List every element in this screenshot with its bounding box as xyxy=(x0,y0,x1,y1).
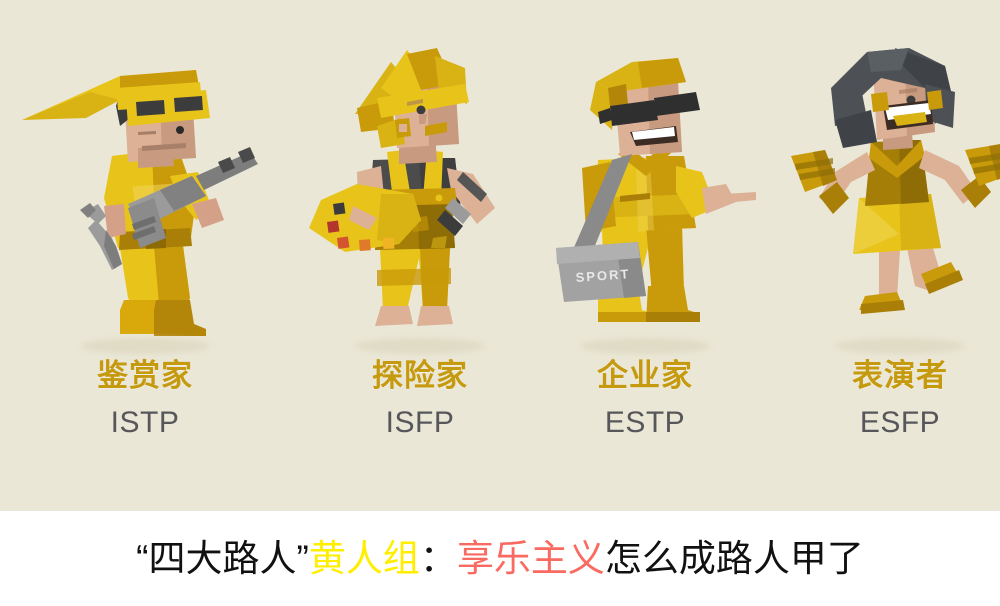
figure-cn-name: 企业家 xyxy=(520,360,770,391)
caption-bar: “四大路人”黄人组：享乐主义怎么成路人甲了 xyxy=(0,511,1000,606)
figure-label-istp: 鉴赏家 ISTP xyxy=(20,360,270,438)
figure-mbti-code: ESTP xyxy=(520,408,770,438)
figure-cn-name: 鉴赏家 xyxy=(20,360,270,391)
poster-page: 鉴赏家 ISTP xyxy=(0,0,1000,606)
figure-label-isfp: 探险家 ISFP xyxy=(295,360,545,438)
figure-shadow xyxy=(80,338,210,354)
figure-label-estp: 企业家 ESTP xyxy=(520,360,770,438)
caption-segment-5: 怎么成路人甲了 xyxy=(605,538,864,579)
artist-with-palette-figure xyxy=(295,48,545,348)
figure-cn-name: 探险家 xyxy=(295,360,545,391)
craftsman-with-drill-figure xyxy=(20,48,270,348)
figure-mbti-code: ISFP xyxy=(295,408,545,438)
figure-card-estp: SPORT 企业家 ESTP xyxy=(520,0,770,511)
caption-segment-4: 享乐主义 xyxy=(457,538,605,579)
figure-card-istp: 鉴赏家 ISTP xyxy=(20,0,270,511)
esfp-illustration xyxy=(775,48,1000,348)
isfp-illustration xyxy=(295,48,545,348)
figure-mbti-code: ISTP xyxy=(20,408,270,438)
dancer-with-maracas-figure xyxy=(775,48,1000,348)
caption-segment-1: “四大路人” xyxy=(136,538,309,579)
caption-text: “四大路人”黄人组：享乐主义怎么成路人甲了 xyxy=(136,540,864,577)
figure-label-esfp: 表演者 ESFP xyxy=(775,360,1000,438)
figure-card-isfp: 探险家 ISFP xyxy=(295,0,545,511)
caption-segment-3: ： xyxy=(420,538,457,579)
caption-segment-2: 黄人组 xyxy=(309,538,420,579)
athlete-with-sportbag-figure: SPORT xyxy=(520,48,770,348)
figure-card-esfp: 表演者 ESFP xyxy=(775,0,1000,511)
figure-shadow xyxy=(580,338,710,354)
mbti-figures-poster: 鉴赏家 ISTP xyxy=(0,0,1000,511)
figure-mbti-code: ESFP xyxy=(775,408,1000,438)
estp-illustration: SPORT xyxy=(520,48,770,348)
figure-shadow xyxy=(355,338,485,354)
istp-illustration xyxy=(20,48,270,348)
figure-cn-name: 表演者 xyxy=(775,360,1000,391)
figure-shadow xyxy=(835,338,965,354)
